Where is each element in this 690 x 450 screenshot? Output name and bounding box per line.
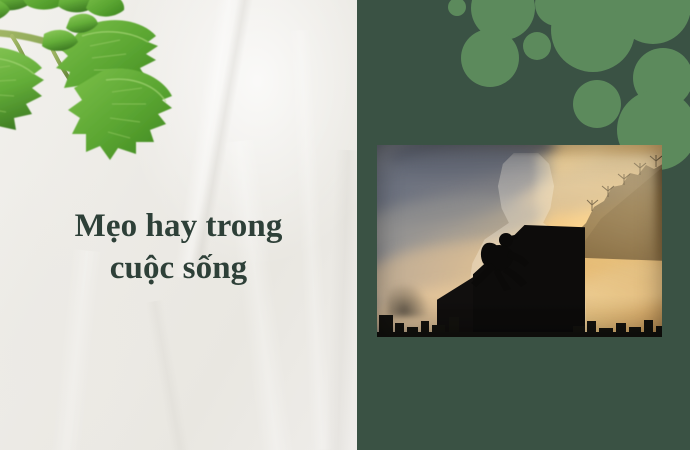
tomato-branch-illustration [0,0,216,164]
decorative-circle [523,32,551,60]
fabric-crease [222,139,296,450]
hero-photo [377,145,662,337]
decorative-circle [448,0,466,16]
poster-canvas: Mẹo hay trong cuộc sống [0,0,690,450]
photo-vignette [377,145,662,337]
headline: Mẹo hay trong cuộc sống [0,206,357,290]
headline-line-2: cuộc sống [0,248,357,290]
headline-line-1: Mẹo hay trong [75,208,283,244]
fabric-shadow [145,300,192,450]
decorative-circle [461,29,519,87]
left-panel: Mẹo hay trong cuộc sống [0,0,357,450]
decorative-circle [573,80,621,128]
fabric-shadow [325,150,357,450]
